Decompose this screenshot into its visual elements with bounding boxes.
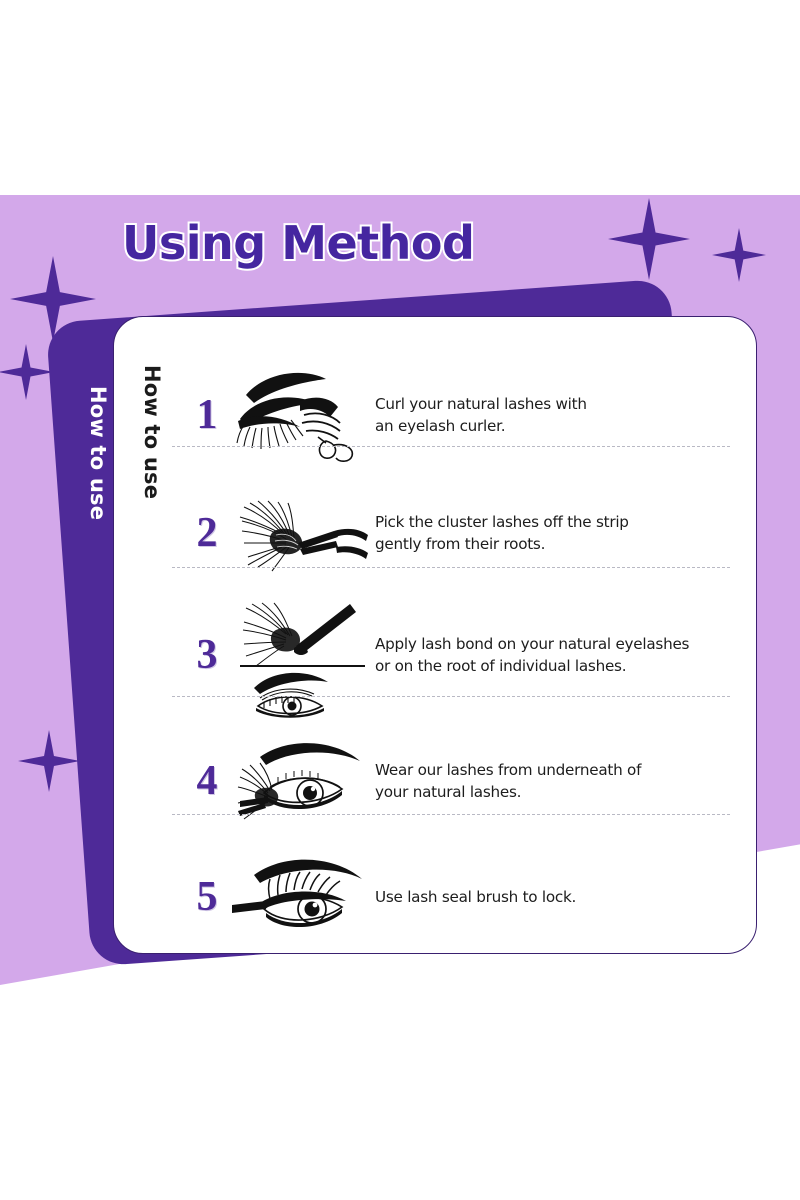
step-text-4: Wear our lashes from underneath of your …	[375, 759, 744, 803]
step-number-2: 2	[184, 512, 230, 554]
eye-with-eyelash-curler-icon	[230, 365, 375, 465]
step-text-4-line2: your natural lashes.	[375, 781, 744, 803]
steps-list: 1	[114, 317, 756, 953]
step-text-2-line1: Pick the cluster lashes off the strip	[375, 511, 744, 533]
step-text-3-line2: or on the root of individual lashes.	[375, 655, 744, 677]
step-text-2-line2: gently from their roots.	[375, 533, 744, 555]
step-number-4: 4	[184, 760, 230, 802]
step-text-1-line2: an eyelash curler.	[375, 415, 744, 437]
step-divider-1	[172, 446, 730, 447]
step-text-5: Use lash seal brush to lock.	[375, 886, 744, 908]
step-text-1-line1: Curl your natural lashes with	[375, 393, 744, 415]
step-divider-2	[172, 567, 730, 568]
lash-cluster-strip-tweezers-icon	[230, 483, 375, 583]
lash-bond-applicator-and-eye-icon	[230, 590, 375, 720]
eye-with-seal-brush-icon	[230, 847, 375, 947]
step-divider-3	[172, 696, 730, 697]
step-number-5: 5	[184, 876, 230, 918]
step-item-3: 3	[184, 589, 744, 721]
step-text-3: Apply lash bond on your natural eyelashe…	[375, 633, 744, 677]
step-text-1: Curl your natural lashes with an eyelash…	[375, 393, 744, 437]
eye-lashes-applied-underneath-icon	[230, 731, 375, 831]
infographic-canvas: Using Method How to use How to use 1	[0, 0, 800, 1200]
step-text-5-line1: Use lash seal brush to lock.	[375, 886, 744, 908]
step-text-2: Pick the cluster lashes off the strip ge…	[375, 511, 744, 555]
step-text-3-line1: Apply lash bond on your natural eyelashe…	[375, 633, 744, 655]
step-divider-4	[172, 814, 730, 815]
step-number-1: 1	[184, 394, 230, 436]
step-item-5: 5	[184, 845, 744, 949]
page-title: Using Method	[122, 216, 474, 270]
step-text-4-line1: Wear our lashes from underneath of	[375, 759, 744, 781]
step-number-3: 3	[184, 634, 230, 676]
step-item-1: 1	[184, 363, 744, 467]
side-label-back: How to use	[86, 386, 110, 520]
instructions-card: How to use 1	[113, 316, 757, 954]
step-item-2: 2	[184, 481, 744, 585]
step-item-4: 4	[184, 729, 744, 833]
